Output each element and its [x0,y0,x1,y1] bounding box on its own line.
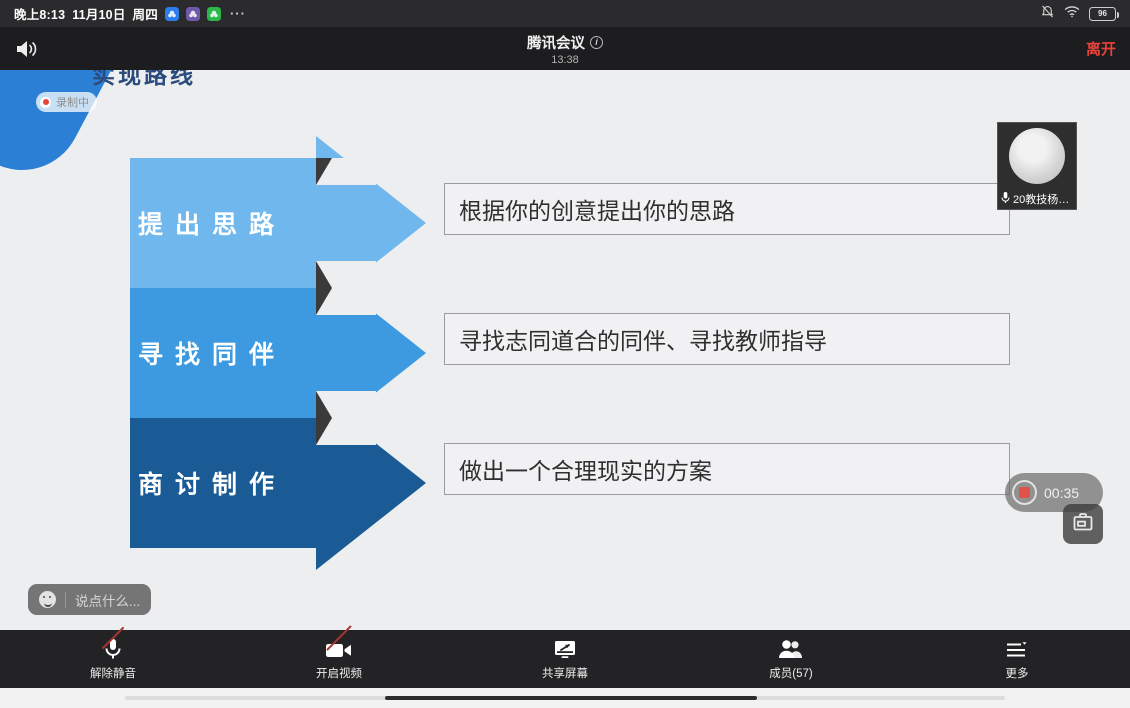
toolbar-button-participants[interactable]: 成员(57) [678,638,904,681]
stop-record-icon[interactable] [1012,480,1037,505]
meeting-duration: 13:38 [0,54,1130,66]
info-icon[interactable]: i [590,36,603,49]
page-title: 腾讯会议 [527,32,585,53]
recording-timer: 00:35 [1044,485,1079,501]
battery-level: 96 [1098,9,1107,18]
toolbox-button[interactable] [1063,504,1103,544]
toolbar-label: 共享屏幕 [542,665,588,681]
wifi-icon [1064,5,1080,23]
toolbox-icon [1072,512,1094,537]
toolbar-button-more[interactable]: 更多 [904,638,1130,681]
recording-badge-label: 录制中 [56,94,89,110]
wechat-icon [207,7,221,21]
microphone-muted-icon [101,638,125,660]
self-video-thumbnail[interactable]: 20教技杨… [997,122,1077,210]
status-bar-left: 晚上8:13 11月10日 周四 ··· [14,4,246,23]
arrow-notch-top [316,288,376,315]
meeting-toolbar: 解除静音 开启视频 共享屏幕 [0,630,1130,688]
camera-off-icon [325,638,353,660]
recording-badge: 录制中 [36,92,97,112]
toolbar-label: 更多 [1006,665,1029,681]
qq-icon [165,7,179,21]
share-screen-icon [553,638,577,660]
flow-step-label: 寻找同伴 [130,335,286,371]
toolbar-button-share[interactable]: 共享屏幕 [452,638,678,681]
toolbar-label: 成员(57) [769,665,812,681]
emoji-icon[interactable] [39,591,56,608]
system-navigation-bar [0,688,1130,708]
toolbar-label: 开启视频 [316,665,362,681]
participant-name: 20教技杨… [1013,191,1069,207]
arrow-notch-bottom [316,261,376,288]
toolbar-button-video[interactable]: 开启视频 [226,638,452,681]
status-bar: 晚上8:13 11月10日 周四 ··· 96 [0,0,1130,27]
meeting-title-line: 腾讯会议 i [527,32,603,53]
bell-muted-icon [1040,4,1055,24]
meeting-title-block: 腾讯会议 i 13:38 [0,32,1130,66]
speaker-icon[interactable] [14,38,40,60]
arrow-notch-top [316,418,376,445]
arrow-notch-bottom [316,391,376,418]
flow-step-label: 商讨制作 [130,465,286,501]
meeting-top-bar: 腾讯会议 i 13:38 离开 [0,27,1130,70]
flow-step-description: 做出一个合理现实的方案 [444,443,1010,495]
kuaishou-icon [186,7,200,21]
flow-arrow-3: 商讨制作 [130,418,430,548]
status-bar-right: 96 [1040,4,1116,24]
status-overflow: ··· [230,6,246,21]
participants-icon [777,638,805,660]
flow-step-description: 寻找志同道合的同伴、寻找教师指导 [444,313,1010,365]
toolbar-label: 解除静音 [90,665,136,681]
slide-title: 实现路线 [92,70,196,90]
home-indicator[interactable] [125,696,1005,700]
participant-name-bar: 20教技杨… [998,189,1076,209]
chat-placeholder: 说点什么... [75,590,140,610]
chat-input[interactable]: 说点什么... [28,584,151,615]
shared-screen-stage[interactable]: 实现路线 录制中 提出思路 根据你的创意提出你的思路 寻找同伴 寻找志同道合的同… [0,70,1130,632]
record-dot-icon [40,97,51,108]
toolbar-button-mute[interactable]: 解除静音 [0,638,226,681]
more-menu-icon [1005,638,1029,660]
status-date: 11月10日 [72,4,125,23]
flow-step-label: 提出思路 [130,205,286,241]
leave-button[interactable]: 离开 [1086,38,1116,59]
battery-icon: 96 [1089,7,1116,21]
divider [65,592,66,608]
arrow-notch-top [316,158,376,185]
flow-step-description: 根据你的创意提出你的思路 [444,183,1010,235]
status-time: 晚上8:13 [14,4,65,23]
microphone-icon [1000,191,1011,207]
status-weekday: 周四 [133,4,158,23]
avatar [1009,128,1065,184]
